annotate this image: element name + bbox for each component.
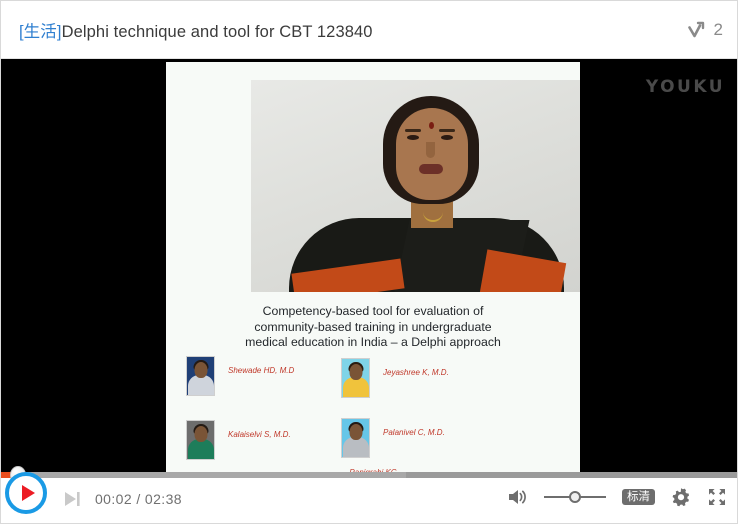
slide-title: Competency-based tool for evaluation of … [166, 304, 580, 351]
page-header: [生活]Delphi technique and tool for CBT 12… [1, 1, 738, 59]
slide-title-line-1: Competency-based tool for evaluation of [166, 304, 580, 320]
control-row: 00:02 / 02:38 标清 [1, 478, 737, 523]
author-photo [186, 420, 215, 460]
fullscreen-icon[interactable] [707, 487, 727, 507]
presenter-eyebrow-right [439, 129, 455, 132]
page-title: [生活]Delphi technique and tool for CBT 12… [19, 18, 373, 42]
volume-slider-handle[interactable] [569, 491, 581, 503]
time-display: 00:02 / 02:38 [95, 491, 182, 507]
author-photo-head [349, 364, 362, 380]
presenter-eye-left [407, 135, 419, 140]
next-track-icon[interactable] [61, 488, 83, 510]
author-photo-head [194, 426, 207, 442]
author-photo [341, 358, 370, 398]
youku-video-page: [生活]Delphi technique and tool for CBT 12… [0, 0, 738, 524]
video-player-stage[interactable]: YOUKU [1, 59, 737, 474]
quality-selector[interactable]: 标清 [622, 489, 655, 506]
youku-watermark: YOUKU [646, 77, 725, 97]
category-tag[interactable]: [生活] [19, 23, 62, 41]
author-entry: Palanivel C, M.D. [341, 418, 445, 458]
player-control-bar: 00:02 / 02:38 标清 [1, 472, 737, 523]
slide-title-line-2: community-based training in undergraduat… [166, 320, 580, 336]
author-entry: Kalaiselvi S, M.D. [186, 420, 291, 460]
volume-slider[interactable] [544, 490, 606, 504]
author-photo-head [194, 362, 207, 378]
author-name: Shewade HD, M.D [228, 366, 294, 375]
youku-play-logo-icon[interactable] [5, 472, 47, 514]
author-entry: Jeyashree K, M.D. [341, 358, 449, 398]
author-name: Palanivel C, M.D. [383, 428, 445, 437]
author-photo-torso [188, 375, 214, 395]
presenter-bindi [429, 122, 434, 129]
author-photo [186, 356, 215, 396]
header-actions: 2 [687, 1, 723, 59]
presentation-slide: Competency-based tool for evaluation of … [166, 62, 580, 474]
video-title-text: Delphi technique and tool for CBT 123840 [62, 23, 373, 41]
author-photo-torso [188, 439, 214, 459]
slide-authors: Shewade HD, M.D Jeyashree K, M.D. [166, 352, 580, 474]
presenter-webcam-image [251, 80, 580, 292]
presenter-mouth [419, 164, 443, 174]
author-photo-head [349, 424, 362, 440]
volume-on-icon[interactable] [506, 486, 528, 508]
gear-icon[interactable] [671, 487, 691, 507]
author-name: Kalaiselvi S, M.D. [228, 430, 291, 439]
slide-title-line-3: medical education in India – a Delphi ap… [166, 335, 580, 351]
presenter-eyebrow-left [405, 129, 421, 132]
right-controls: 标清 [506, 486, 727, 508]
author-photo-torso [343, 437, 369, 457]
share-count: 2 [714, 20, 723, 40]
author-entry: Shewade HD, M.D [186, 356, 294, 396]
author-name: Jeyashree K, M.D. [383, 368, 449, 377]
presenter-nose [426, 142, 435, 158]
author-photo [341, 418, 370, 458]
presenter-eye-right [441, 135, 453, 140]
author-photo-torso [343, 377, 369, 397]
share-check-arrow-icon[interactable] [687, 20, 707, 40]
